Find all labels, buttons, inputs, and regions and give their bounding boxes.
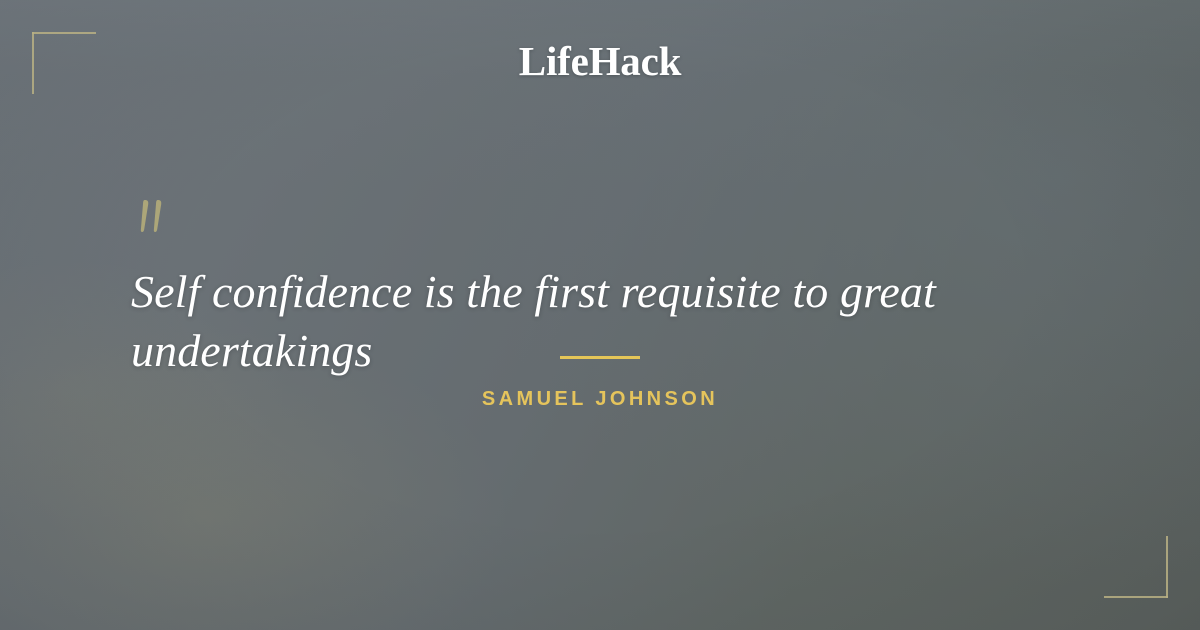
double-quote-icon xyxy=(131,198,181,246)
corner-bracket-bottom-right-horizontal xyxy=(1104,596,1168,598)
corner-bracket-bottom-right-icon xyxy=(1104,536,1168,598)
quote-text: Self confidence is the first requisite t… xyxy=(131,263,1131,381)
corner-bracket-bottom-right-vertical xyxy=(1166,536,1168,598)
quote-author: SAMUEL JOHNSON xyxy=(0,389,1200,409)
quote-card: LifeHack Self confidence is the first re… xyxy=(0,0,1200,630)
divider-rule xyxy=(560,356,640,359)
corner-bracket-top-left-horizontal xyxy=(32,32,96,34)
brand-logo: LifeHack xyxy=(0,41,1200,82)
